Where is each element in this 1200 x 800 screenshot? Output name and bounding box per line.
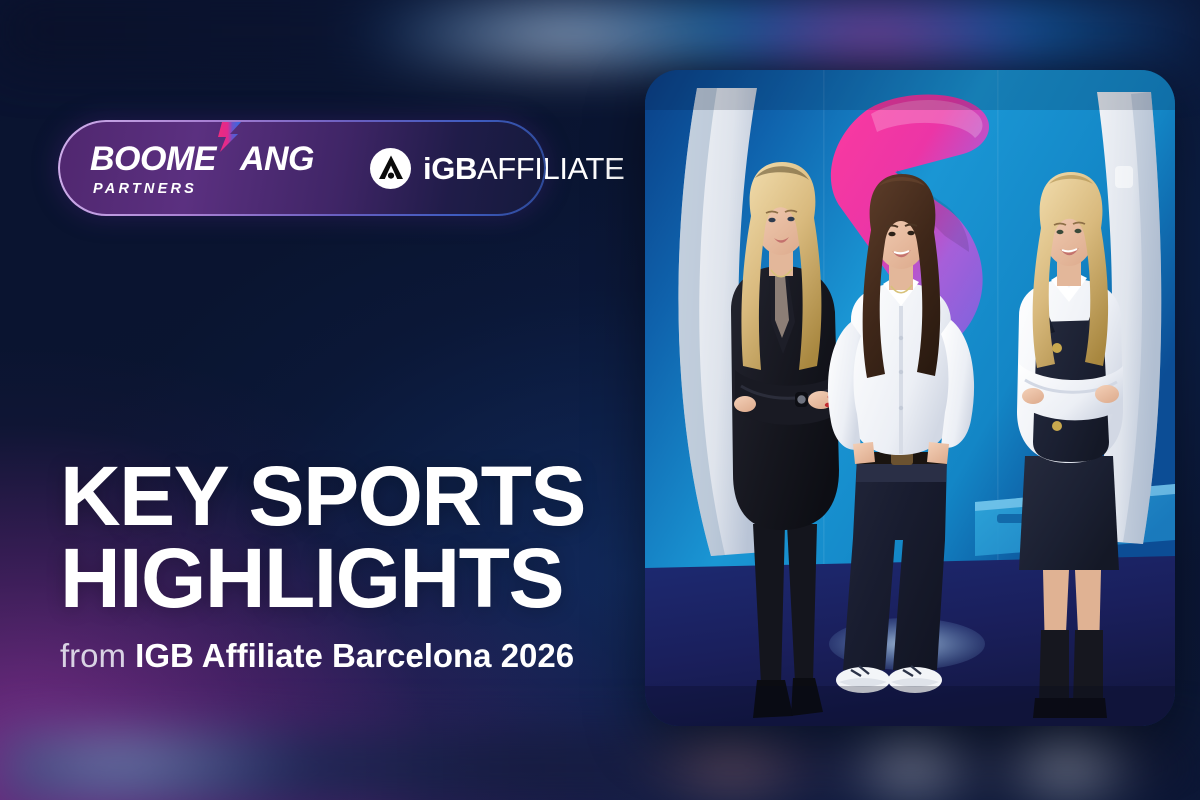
promo-banner: BOOMEANG PARTNERS iGBAFFILIATE KEY SPORT… — [0, 0, 1200, 800]
boomerang-text-part1: BOOME — [90, 142, 216, 176]
igb-text-bold: iGB — [423, 151, 477, 186]
igb-affiliate-logo: iGBAFFILIATE — [370, 148, 624, 189]
event-photo — [645, 70, 1175, 726]
igb-wordmark: iGBAFFILIATE — [423, 153, 624, 184]
subtitle-prefix: from — [60, 637, 135, 674]
boomerang-tagline: PARTNERS — [93, 181, 197, 197]
boomerang-text-part2: ANG — [240, 142, 314, 176]
boomerang-r-glyph-icon — [215, 140, 241, 170]
top-reflection-band — [0, 0, 1200, 62]
page-title: KEY SPORTS HIGHLIGHTS — [60, 455, 660, 620]
headline-line-1: KEY SPORTS — [60, 455, 660, 537]
subtitle: from IGB Affiliate Barcelona 2026 — [60, 637, 574, 675]
bottom-reflection-band — [0, 736, 1200, 800]
igb-triangle-a-icon — [370, 148, 411, 189]
headline-line-2: HIGHLIGHTS — [60, 537, 660, 619]
boomerang-wordmark: BOOMEANG — [90, 140, 314, 176]
igb-text-light: AFFILIATE — [477, 151, 624, 186]
subtitle-emphasis: IGB Affiliate Barcelona 2026 — [135, 637, 574, 674]
logo-pill[interactable]: BOOMEANG PARTNERS iGBAFFILIATE — [58, 120, 546, 216]
boomerang-partners-logo: BOOMEANG PARTNERS — [90, 140, 314, 197]
